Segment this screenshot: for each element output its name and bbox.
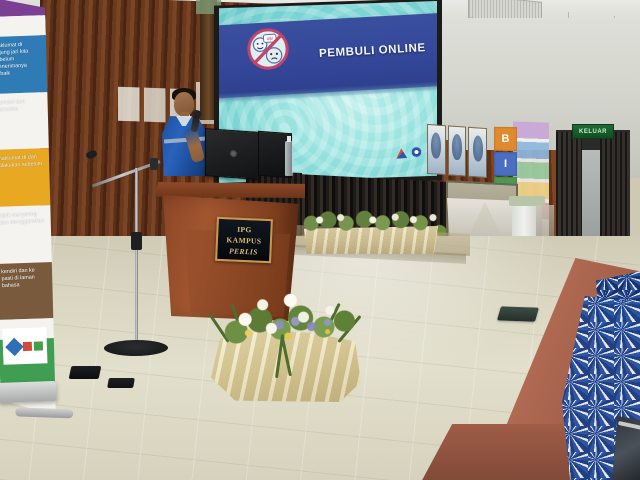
logo-circle-icon <box>410 146 422 158</box>
podium-plaque: IPG KAMPUS PERLIS <box>215 217 273 263</box>
art-panels <box>427 124 487 178</box>
art-panel <box>448 125 467 176</box>
stage-floral-white <box>300 210 440 230</box>
banner-band-text: mencari dan mencuba <box>0 98 42 114</box>
bijak-letter-i: I <box>494 152 517 177</box>
doormat <box>497 306 539 321</box>
art-panel <box>427 124 446 175</box>
no-bullying-icon: #$! <box>244 25 292 73</box>
mic-height-clutch[interactable] <box>131 232 142 250</box>
plaque-line-1: IPG <box>237 223 252 235</box>
floral-arrangement <box>205 278 365 403</box>
laptop-open[interactable] <box>205 128 260 180</box>
mic-stand-pole <box>135 168 138 346</box>
stage-floral-row <box>300 206 440 254</box>
water-bottle <box>285 141 293 176</box>
svg-text:#$!: #$! <box>267 37 274 43</box>
foreground-person <box>556 268 640 480</box>
podium-top <box>155 182 305 198</box>
logo-triangle-icon <box>396 148 408 159</box>
banner-band-text: bijak menyaring dan menggunakan <box>0 211 46 227</box>
exit-sign: KELUAR <box>572 124 614 139</box>
banner-logo-diamond-icon <box>5 337 23 355</box>
cable-box <box>69 366 102 379</box>
banner-band-text: maklumat di hujung jari kita sebelum men… <box>0 41 41 78</box>
banner-base <box>0 381 57 403</box>
photo-scene: #$! PEMBULI ONLINE B I J A K KELUAR <box>0 0 640 480</box>
cable-box-secondary <box>107 378 135 388</box>
art-panel <box>468 127 487 178</box>
banner-band <box>0 15 46 37</box>
banner-logo <box>2 327 47 365</box>
slide-logos <box>395 146 422 158</box>
plaque-line-3: PERLIS <box>229 245 258 257</box>
banner-band-text: kendiri dan ke pasti di laman bahasa <box>1 267 48 290</box>
bijak-letter-b: B <box>494 127 517 152</box>
exit-sign-label: KELUAR <box>579 129 607 135</box>
banner-band-text: maklumat di dan dilakukan sebelum <box>0 154 44 170</box>
banner-logo-square-green-icon <box>33 341 42 350</box>
floral-white-roses <box>213 288 359 344</box>
mic-joint <box>150 158 158 170</box>
